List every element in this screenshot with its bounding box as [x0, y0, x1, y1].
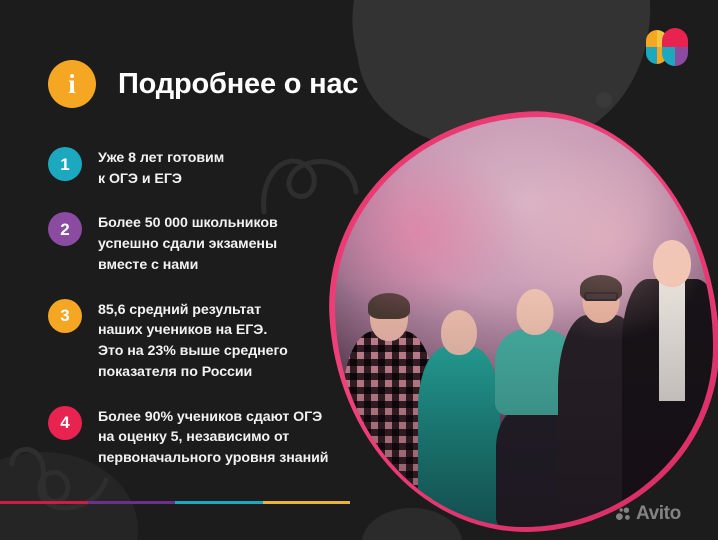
accent-rule-segment-2 — [88, 501, 176, 504]
fact-number-1: 1 — [60, 156, 69, 173]
fact-text-3: 85,6 средний результат наших учеников на… — [98, 298, 288, 383]
fact-number-badge-3: 3 — [48, 299, 82, 333]
fact-number-badge-2: 2 — [48, 212, 82, 246]
avito-dots-icon — [616, 507, 631, 521]
accent-rule-segment-1 — [0, 501, 88, 504]
group-photo — [330, 112, 718, 532]
fact-text-2: Более 50 000 школьников успешно сдали эк… — [98, 211, 278, 275]
person-4 — [553, 239, 649, 527]
person-4-head — [583, 277, 620, 323]
person-1-body — [343, 331, 435, 527]
slide-canvas: i Подробнее о нас 1 Уже 8 лет готовим к … — [0, 0, 718, 540]
photo-image — [335, 117, 713, 527]
person-5-head — [653, 240, 691, 287]
person-5-hair — [641, 235, 703, 309]
person-2-head — [441, 310, 477, 355]
fact-number-3: 3 — [60, 307, 69, 324]
person-1 — [341, 277, 437, 527]
fact-number-4: 4 — [60, 414, 69, 431]
header: i Подробнее о нас — [48, 60, 358, 108]
list-item: 1 Уже 8 лет готовим к ОГЭ и ЕГЭ — [48, 146, 358, 189]
person-4-glasses — [584, 292, 618, 301]
person-2 — [413, 291, 505, 527]
person-3 — [487, 265, 583, 527]
person-2-hair — [433, 311, 485, 375]
person-3-hair — [507, 285, 563, 363]
accent-rule-segment-3 — [175, 501, 263, 504]
page-title: Подробнее о нас — [118, 68, 358, 101]
person-4-hair — [580, 275, 622, 301]
list-item: 2 Более 50 000 школьников успешно сдали … — [48, 211, 358, 275]
person-1-head — [370, 293, 408, 341]
fact-number-badge-1: 1 — [48, 147, 82, 181]
list-item: 3 85,6 средний результат наших учеников … — [48, 298, 358, 383]
person-5 — [617, 221, 713, 527]
info-icon: i — [48, 60, 96, 108]
person-3-head — [517, 289, 554, 335]
fact-number-2: 2 — [60, 221, 69, 238]
avito-watermark: Avito — [616, 504, 681, 523]
info-icon-glyph: i — [68, 71, 76, 98]
person-5-shirt — [659, 281, 685, 401]
person-2-body — [418, 347, 500, 527]
person-4-body — [558, 315, 644, 527]
person-3-top — [495, 329, 575, 415]
fact-number-badge-4: 4 — [48, 406, 82, 440]
brand-logo — [646, 28, 688, 66]
person-5-body — [622, 279, 713, 527]
fact-text-1: Уже 8 лет готовим к ОГЭ и ЕГЭ — [98, 146, 224, 189]
person-1-hair — [368, 293, 410, 319]
accent-rule — [0, 501, 350, 504]
fact-text-4: Более 90% учеников сдают ОГЭ на оценку 5… — [98, 405, 328, 469]
facts-list: 1 Уже 8 лет готовим к ОГЭ и ЕГЭ 2 Более … — [48, 146, 358, 469]
person-3-body — [496, 407, 574, 527]
avito-wordmark: Avito — [636, 504, 681, 523]
people-group — [335, 117, 713, 527]
list-item: 4 Более 90% учеников сдают ОГЭ на оценку… — [48, 405, 358, 469]
background-dot — [596, 92, 612, 108]
